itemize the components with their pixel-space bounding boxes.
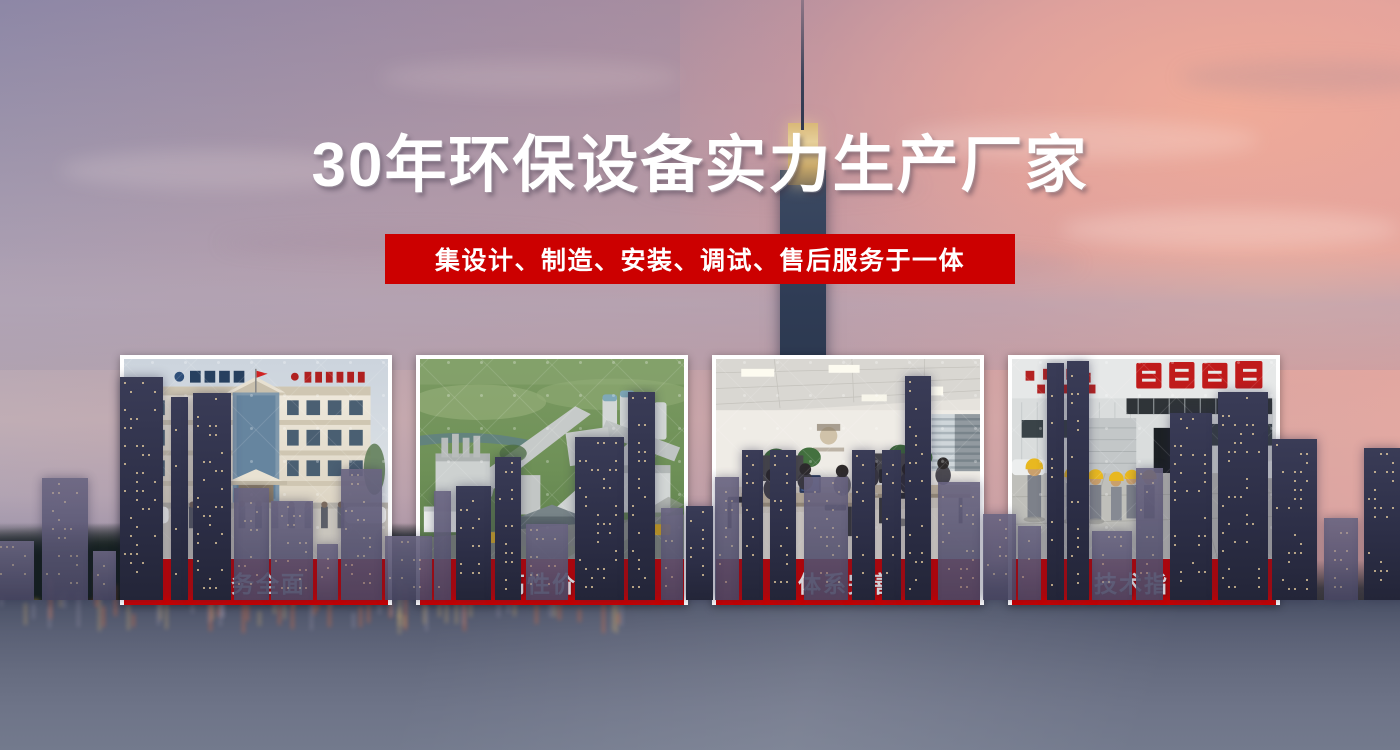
hero-banner: 30年环保设备实力生产厂家 集设计、制造、安装、调试、售后服务于一体 — [0, 0, 1400, 750]
page-title: 30年环保设备实力生产厂家 — [0, 133, 1400, 198]
subtitle-banner: 集设计、制造、安装、调试、售后服务于一体 — [385, 234, 1015, 284]
subtitle-text: 集设计、制造、安装、调试、售后服务于一体 — [435, 241, 965, 277]
skyscraper-antenna — [801, 0, 804, 130]
